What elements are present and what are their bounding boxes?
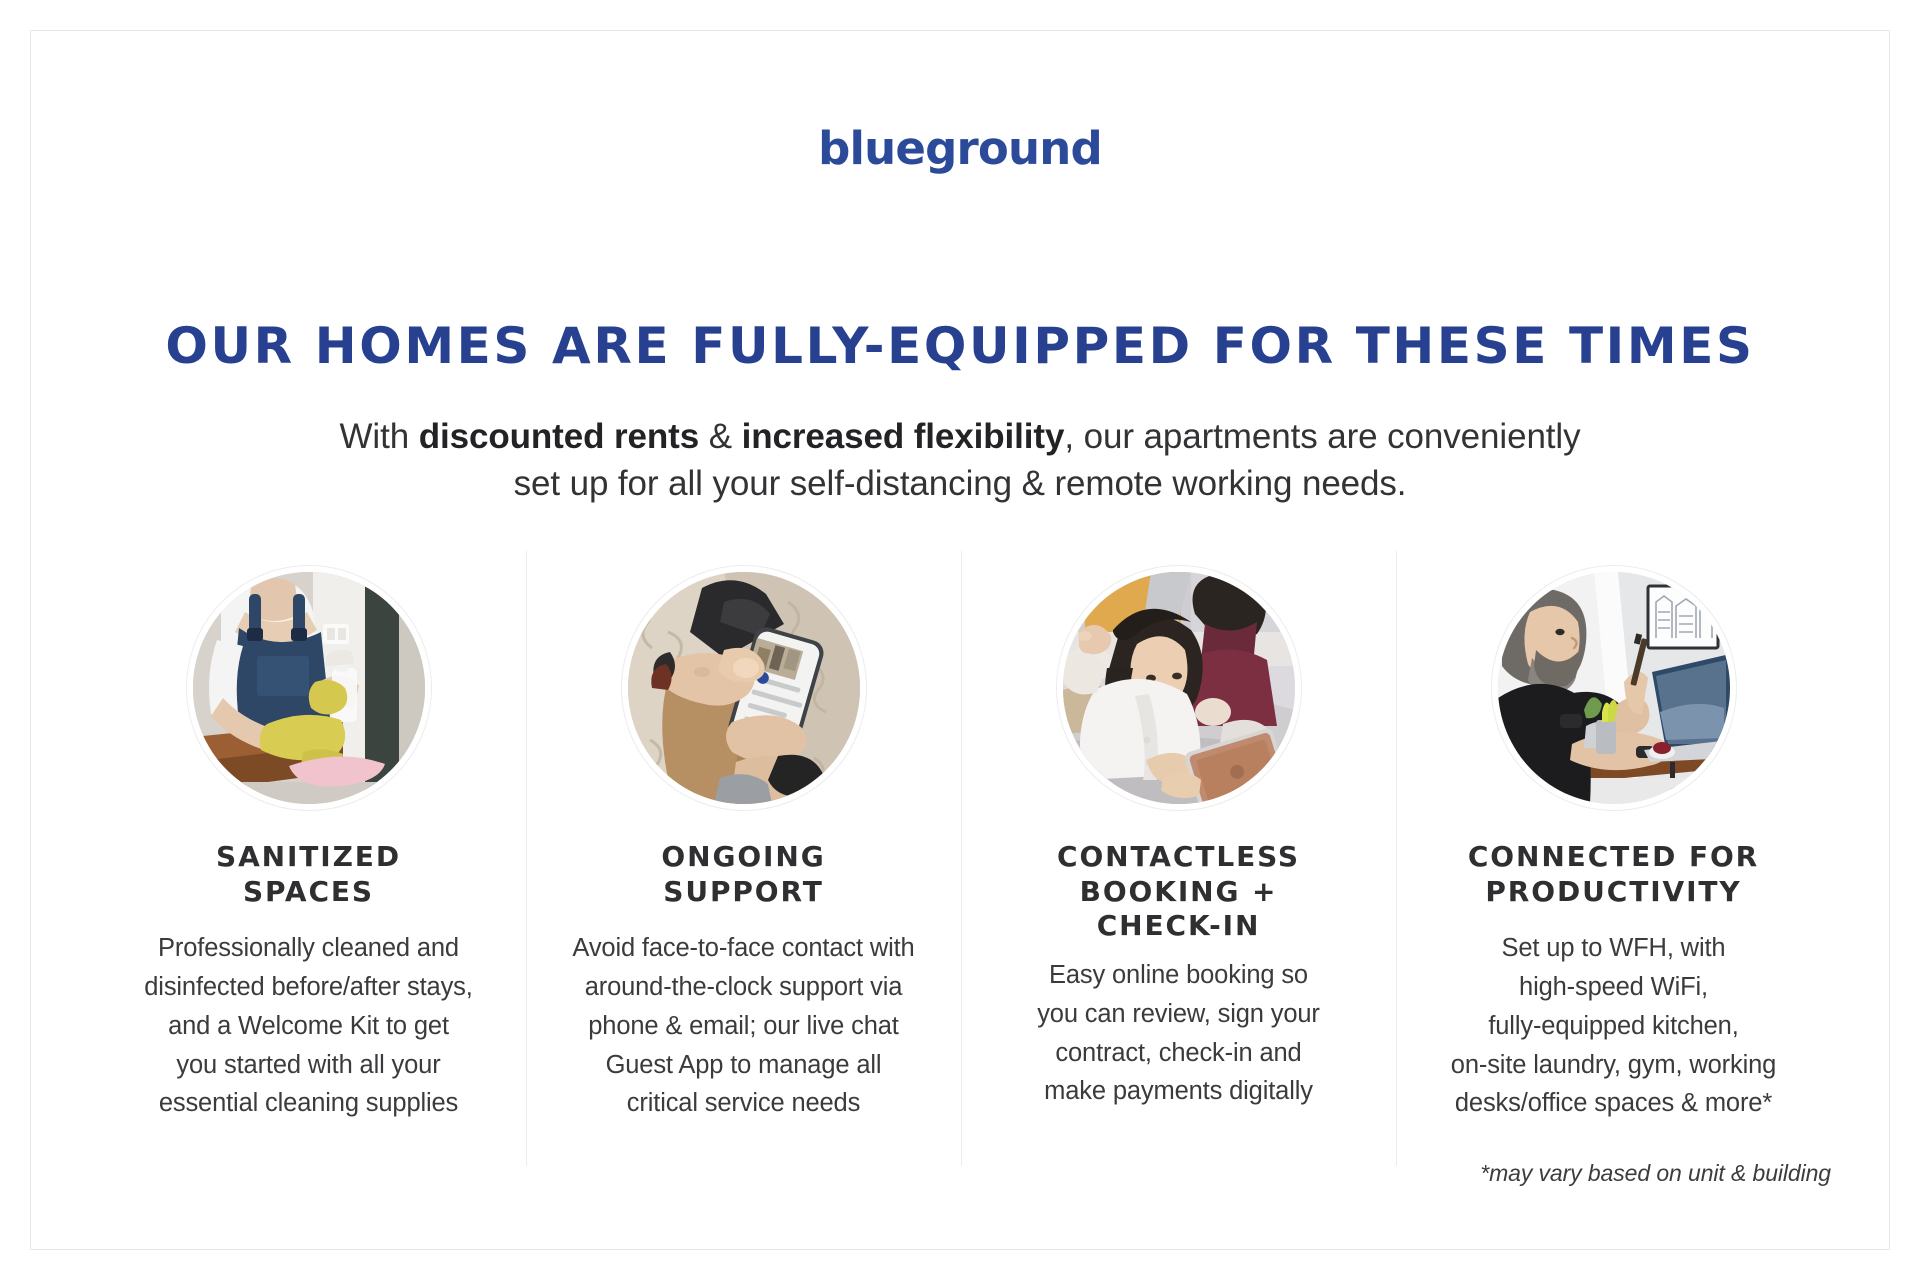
- feature-body-line: on-site laundry, gym, working: [1451, 1046, 1776, 1085]
- subheading-prefix: With: [339, 417, 418, 456]
- subheading-line-2: set up for all your self-distancing & re…: [250, 461, 1670, 508]
- feature-column-contactless-booking: CONTACTLESS BOOKING + CHECK-IN Easy onli…: [961, 566, 1396, 1181]
- feature-body-line: critical service needs: [572, 1084, 914, 1123]
- feature-body-line: Professionally cleaned and: [144, 929, 472, 968]
- feature-body-line: you started with all your: [144, 1046, 472, 1085]
- subheading: With discounted rents & increased flexib…: [250, 414, 1670, 508]
- subheading-emphasis-flexibility: increased flexibility: [742, 417, 1065, 456]
- feature-body-connected-productivity: Set up to WFH, with high-speed WiFi, ful…: [1451, 929, 1776, 1123]
- content-card: blueground OUR HOMES ARE FULLY-EQUIPPED …: [30, 30, 1890, 1250]
- feature-body-line: phone & email; our live chat: [572, 1007, 914, 1046]
- photo-laptop-connected-productivity: [1492, 566, 1736, 810]
- subheading-conjunction: &: [699, 417, 742, 456]
- page-title: OUR HOMES ARE FULLY-EQUIPPED FOR THESE T…: [31, 320, 1889, 373]
- feature-title-line: SANITIZED: [216, 840, 401, 875]
- feature-title-line: CONTACTLESS: [1057, 840, 1300, 875]
- feature-body-line: around-the-clock support via: [572, 968, 914, 1007]
- feature-title-line: SUPPORT: [661, 875, 825, 910]
- footnote-disclaimer: *may vary based on unit & building: [1480, 1160, 1831, 1187]
- photo-cleaning-sanitized-spaces: [187, 566, 431, 810]
- feature-title-sanitized-spaces: SANITIZED SPACES: [216, 840, 401, 909]
- photo-phone-ongoing-support: [622, 566, 866, 810]
- photo-tablet-contactless-booking: [1057, 566, 1301, 810]
- blueground-logo: blueground: [818, 126, 1102, 171]
- feature-title-contactless-booking: CONTACTLESS BOOKING + CHECK-IN: [1057, 840, 1300, 944]
- feature-body-line: high-speed WiFi,: [1451, 968, 1776, 1007]
- feature-body-line: Easy online booking so: [1037, 956, 1320, 995]
- marketing-infographic: blueground OUR HOMES ARE FULLY-EQUIPPED …: [0, 0, 1920, 1280]
- feature-title-line: PRODUCTIVITY: [1468, 875, 1759, 910]
- feature-title-line: BOOKING +: [1057, 875, 1300, 910]
- feature-title-line: SPACES: [216, 875, 401, 910]
- feature-column-connected-productivity: CONNECTED FOR PRODUCTIVITY Set up to WFH…: [1396, 566, 1831, 1181]
- feature-body-contactless-booking: Easy online booking so you can review, s…: [1037, 956, 1320, 1111]
- feature-columns: SANITIZED SPACES Professionally cleaned …: [91, 566, 1831, 1181]
- feature-title-line: ONGOING: [661, 840, 825, 875]
- feature-column-ongoing-support: ONGOING SUPPORT Avoid face-to-face conta…: [526, 566, 961, 1181]
- feature-body-line: fully-equipped kitchen,: [1451, 1007, 1776, 1046]
- feature-title-line: CHECK-IN: [1057, 909, 1300, 944]
- feature-body-line: you can review, sign your: [1037, 995, 1320, 1034]
- feature-body-line: Avoid face-to-face contact with: [572, 929, 914, 968]
- feature-column-sanitized-spaces: SANITIZED SPACES Professionally cleaned …: [91, 566, 526, 1181]
- feature-title-ongoing-support: ONGOING SUPPORT: [661, 840, 825, 909]
- feature-body-line: essential cleaning supplies: [144, 1084, 472, 1123]
- brand-logo-container: blueground: [31, 126, 1889, 171]
- feature-body-line: contract, check-in and: [1037, 1034, 1320, 1073]
- feature-title-line: CONNECTED FOR: [1468, 840, 1759, 875]
- feature-body-line: desks/office spaces & more*: [1451, 1084, 1776, 1123]
- feature-body-line: Set up to WFH, with: [1451, 929, 1776, 968]
- feature-body-ongoing-support: Avoid face-to-face contact with around-t…: [572, 929, 914, 1123]
- feature-body-sanitized-spaces: Professionally cleaned and disinfected b…: [144, 929, 472, 1123]
- feature-body-line: and a Welcome Kit to get: [144, 1007, 472, 1046]
- feature-body-line: Guest App to manage all: [572, 1046, 914, 1085]
- feature-body-line: make payments digitally: [1037, 1072, 1320, 1111]
- subheading-line-1: With discounted rents & increased flexib…: [250, 414, 1670, 461]
- subheading-suffix: , our apartments are conveniently: [1064, 417, 1580, 456]
- feature-body-line: disinfected before/after stays,: [144, 968, 472, 1007]
- subheading-emphasis-rents: discounted rents: [419, 417, 699, 456]
- feature-title-connected-productivity: CONNECTED FOR PRODUCTIVITY: [1468, 840, 1759, 909]
